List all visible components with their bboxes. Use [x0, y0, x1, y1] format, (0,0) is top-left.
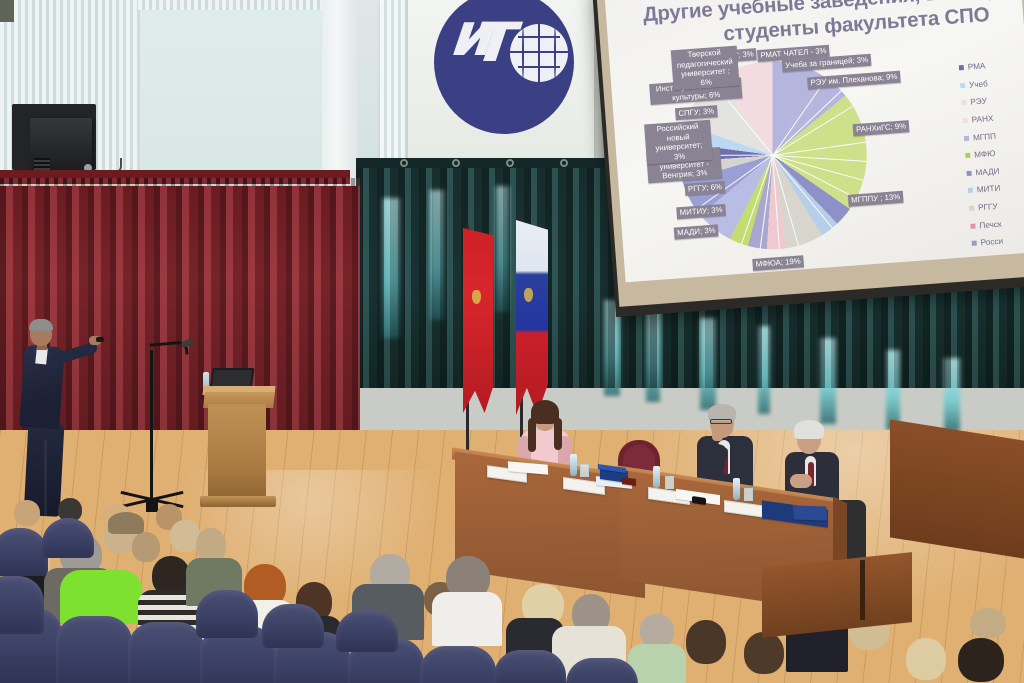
panelist-man2-hair: [794, 420, 824, 439]
wood-panel-divider: [860, 560, 865, 621]
water-bottle: [733, 478, 740, 500]
legend-label: МГПП: [973, 131, 997, 142]
legend-swatch: [969, 206, 974, 211]
theater-seat: [336, 610, 398, 652]
globe-icon: [510, 24, 568, 82]
legend-label: РАНХ: [971, 114, 993, 125]
audience-shoulders: [432, 592, 502, 646]
panelist-woman-hair-strand: [528, 418, 536, 452]
legend-swatch: [970, 223, 975, 228]
ito-banner: и т: [408, 0, 594, 164]
curtain-ring: [560, 159, 568, 167]
curtain-ring: [400, 159, 408, 167]
audience-head: [14, 500, 40, 526]
legend-swatch: [961, 100, 966, 105]
water-bottle: [653, 466, 660, 488]
legend-swatch: [963, 118, 968, 123]
ceiling-corner: [0, 0, 14, 22]
projection-screen: Другие учебные заведения, в которы студе…: [592, 0, 1024, 317]
speaker-vent: [34, 158, 50, 170]
theater-seat: [494, 650, 566, 683]
podium-body: [208, 404, 266, 500]
theater-seat: [0, 528, 48, 576]
pie-label-tver: Тверской педагогический университет ; 6%: [671, 46, 740, 91]
theater-seat: [0, 576, 44, 634]
legend-label: Росси: [980, 237, 1003, 248]
legend-swatch: [960, 83, 965, 88]
slide-surface: Другие учебные заведения, в которы студе…: [605, 0, 1024, 282]
audience-hair: [108, 512, 144, 534]
presenter-hair: [29, 319, 53, 331]
laptop-screen: [212, 370, 252, 386]
legend-label: МФЮ: [974, 149, 996, 160]
audience-head: [744, 632, 784, 674]
audience-head: [686, 620, 726, 664]
presenter-shirt: [35, 347, 48, 364]
moscow-flag-emblem: [472, 290, 481, 304]
presentation-clicker: [96, 337, 104, 342]
legend-swatch: [964, 135, 969, 140]
audience-head: [970, 608, 1006, 638]
moscow-flag: [463, 228, 493, 413]
panelist-woman-hair-strand: [554, 418, 562, 450]
pie-label-mfua: МФЮА; 19%: [752, 255, 804, 270]
audience-head: [906, 638, 946, 680]
drinking-glass: [665, 476, 674, 489]
audience-head: [640, 614, 674, 648]
theater-seat: [56, 616, 132, 683]
panelist-man1-hand: [712, 428, 723, 441]
audience-head: [132, 532, 160, 562]
audience-head: [196, 528, 226, 562]
legend-label: МАДИ: [975, 167, 1000, 178]
theater-seat: [128, 622, 204, 683]
glasses-icon: [710, 419, 732, 424]
legend-swatch: [972, 241, 977, 246]
legend-label: РМА: [968, 62, 986, 72]
legend-label: РГГУ: [978, 202, 998, 212]
legend-swatch: [966, 171, 971, 176]
russia-flag: [516, 220, 548, 415]
microphone-stand-pole: [150, 350, 153, 505]
window-blinds-left-top: [138, 0, 324, 10]
chart-legend: РМА Учеб РЭУ РАНХ МГПП МФЮ МАДИ МИТИ РГГ…: [958, 54, 1024, 282]
panelist-man2-hands: [790, 474, 812, 488]
legend-swatch: [959, 65, 964, 70]
curtain-ring: [506, 159, 514, 167]
theater-seat: [196, 590, 258, 638]
conference-hall-photo: и т Другие учебные заведения, в котор: [0, 0, 1024, 683]
legend-swatch: [965, 153, 970, 158]
curtain-ring: [452, 159, 460, 167]
legend-swatch: [968, 188, 973, 193]
legend-label: МИТИ: [977, 184, 1001, 195]
legend-label: РЭУ: [970, 97, 987, 107]
theater-seat: [420, 646, 496, 683]
theater-seat: [42, 518, 94, 558]
pie-label-rosnou: Российский новый университет; 3%: [644, 120, 713, 165]
drinking-glass: [580, 464, 589, 477]
theater-seat: [262, 604, 324, 648]
legend-label: Печск: [979, 219, 1002, 230]
legend-label: Учеб: [969, 79, 988, 89]
russia-flag-emblem: [524, 288, 533, 302]
water-bottle: [570, 454, 577, 476]
audience-head: [958, 638, 1004, 682]
